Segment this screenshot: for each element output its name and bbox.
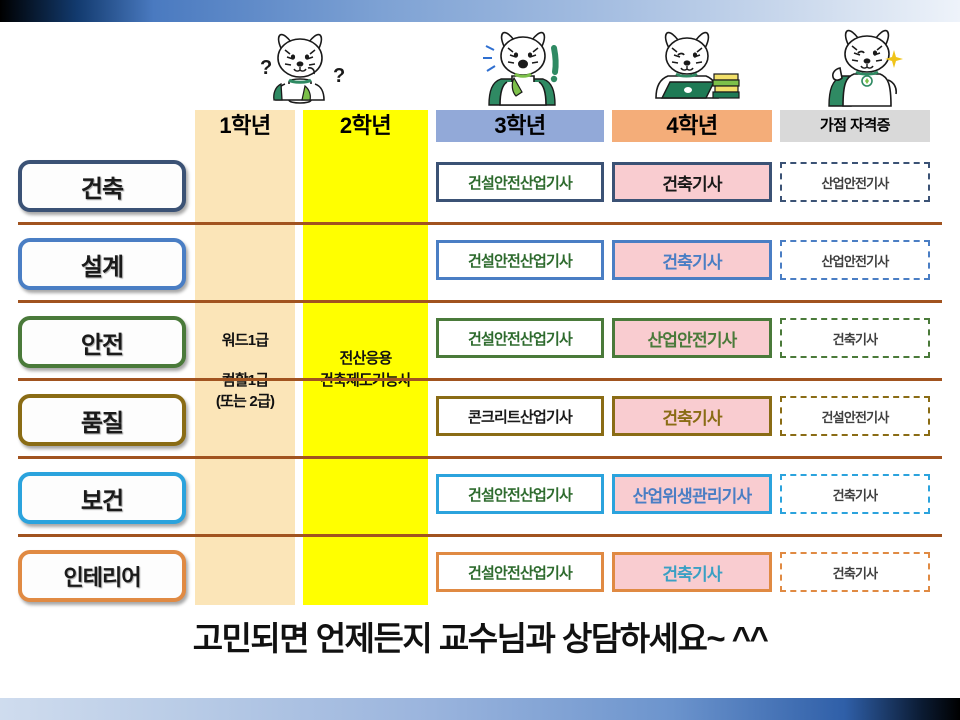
- track-label-3[interactable]: 안전: [18, 316, 186, 368]
- year2-cert-line2: 건축제도기능사: [303, 372, 428, 391]
- slide-caption: 고민되면 언제든지 교수님과 상담하세요~ ^^: [0, 612, 960, 660]
- tiger-studying-icon: [640, 24, 750, 110]
- year1-column-band: [195, 110, 295, 605]
- bonus-cert-4[interactable]: 건설안전기사: [780, 396, 930, 436]
- row-divider: [18, 378, 942, 381]
- roadmap-grid: 1학년 2학년 3학년 4학년 가점 자격증 워드1급 컴활1급 (또는 2급)…: [0, 110, 960, 610]
- bonus-cert-1[interactable]: 산업안전기사: [780, 162, 930, 202]
- row-divider: [18, 222, 942, 225]
- header-year2: 2학년: [303, 110, 428, 142]
- year3-cert-2[interactable]: 건설안전산업기사: [436, 240, 604, 280]
- year4-cert-1[interactable]: 건축기사: [612, 162, 772, 202]
- year3-cert-3[interactable]: 건설안전산업기사: [436, 318, 604, 358]
- year3-cert-1[interactable]: 건설안전산업기사: [436, 162, 604, 202]
- year4-cert-4[interactable]: 건축기사: [612, 396, 772, 436]
- header-year3: 3학년: [436, 110, 604, 142]
- header-year4: 4학년: [612, 110, 772, 142]
- bonus-cert-2[interactable]: 산업안전기사: [780, 240, 930, 280]
- slide-root: ? ?: [0, 0, 960, 720]
- bonus-cert-6[interactable]: 건축기사: [780, 552, 930, 592]
- mascot-strip: ? ?: [0, 24, 960, 110]
- decorative-top-band: [0, 0, 960, 22]
- header-year1: 1학년: [195, 110, 295, 142]
- track-label-5[interactable]: 보건: [18, 472, 186, 524]
- track-label-2[interactable]: 설계: [18, 238, 186, 290]
- tiger-thinking-icon: ? ?: [245, 24, 355, 110]
- track-label-6[interactable]: 인테리어: [18, 550, 186, 602]
- year3-cert-6[interactable]: 건설안전산업기사: [436, 552, 604, 592]
- row-divider: [18, 456, 942, 459]
- header-bonus: 가점 자격증: [780, 110, 930, 142]
- year4-cert-3[interactable]: 산업안전기사: [612, 318, 772, 358]
- decorative-bottom-band: [0, 698, 960, 720]
- year1-cert-comhwal-note: (또는 2급): [195, 393, 295, 412]
- svg-text:?: ?: [333, 65, 345, 87]
- bonus-cert-3[interactable]: 건축기사: [780, 318, 930, 358]
- svg-text:?: ?: [260, 57, 272, 79]
- year2-cert-line1: 전산응용: [303, 350, 428, 369]
- row-divider: [18, 300, 942, 303]
- tiger-excited-icon: [468, 24, 578, 110]
- year1-cert-word: 워드1급: [195, 332, 295, 351]
- row-divider: [18, 534, 942, 537]
- tiger-thumbsup-icon: [812, 24, 922, 110]
- year4-cert-6[interactable]: 건축기사: [612, 552, 772, 592]
- year3-cert-5[interactable]: 건설안전산업기사: [436, 474, 604, 514]
- track-label-4[interactable]: 품질: [18, 394, 186, 446]
- year4-cert-2[interactable]: 건축기사: [612, 240, 772, 280]
- year4-cert-5[interactable]: 산업위생관리기사: [612, 474, 772, 514]
- year1-cert-comhwal: 컴활1급: [195, 372, 295, 391]
- year3-cert-4[interactable]: 콘크리트산업기사: [436, 396, 604, 436]
- track-label-1[interactable]: 건축: [18, 160, 186, 212]
- bonus-cert-5[interactable]: 건축기사: [780, 474, 930, 514]
